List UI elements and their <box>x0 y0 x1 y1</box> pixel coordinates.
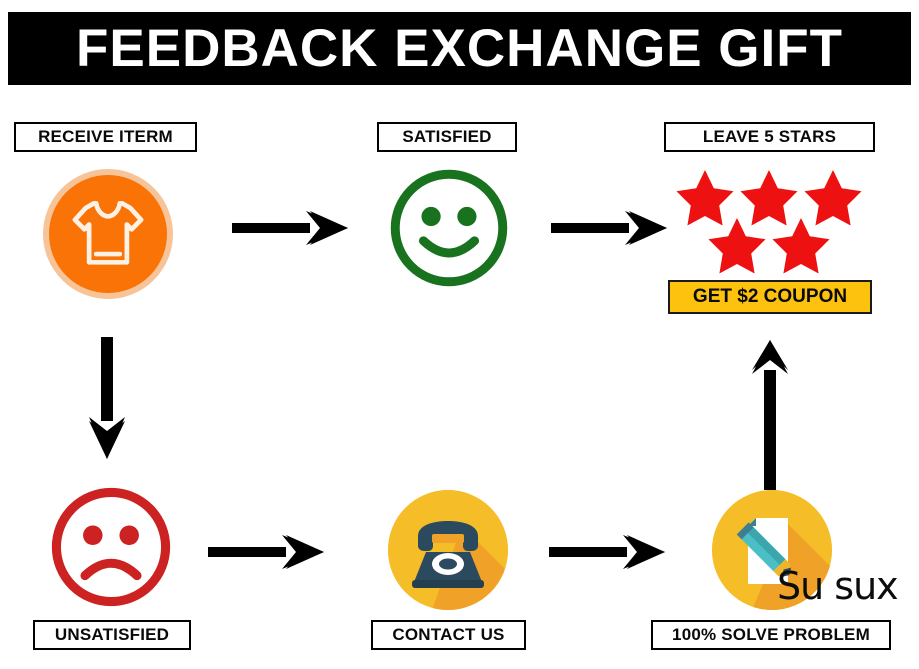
label-unsatisfied: UNSATISFIED <box>33 620 191 650</box>
title-banner: FEEDBACK EXCHANGE GIFT <box>8 12 911 85</box>
arrow-contact-to-solve <box>549 522 665 582</box>
label-contact-us: CONTACT US <box>371 620 526 650</box>
get-coupon-text: GET $2 COUPON <box>693 286 847 308</box>
arrow-item-to-unsatisfied <box>77 337 137 459</box>
smiley-face-icon <box>385 164 513 292</box>
arrow-satisfied-to-stars <box>551 198 667 258</box>
receive-item-circle <box>43 169 173 299</box>
arrow-item-to-satisfied <box>232 198 348 258</box>
arrow-solve-to-coupon <box>740 340 800 490</box>
label-receive-item-text: RECEIVE ITERM <box>38 127 173 147</box>
label-satisfied-text: SATISFIED <box>402 127 491 147</box>
five-stars-icon <box>673 168 865 276</box>
sad-face-icon <box>46 482 176 612</box>
label-contact-us-text: CONTACT US <box>392 625 504 645</box>
contact-us-circle <box>388 490 508 610</box>
infographic-canvas: FEEDBACK EXCHANGE GIFT RECEIVE ITERM SAT… <box>0 0 919 669</box>
label-leave-5-stars: LEAVE 5 STARS <box>664 122 875 152</box>
label-unsatisfied-text: UNSATISFIED <box>55 625 169 645</box>
arrow-unsatisfied-to-contact <box>208 522 324 582</box>
five-stars-group <box>673 168 865 276</box>
handwritten-annotation: Su sux <box>777 567 898 605</box>
telephone-icon <box>388 490 508 610</box>
label-solve-problem: 100% SOLVE PROBLEM <box>651 620 891 650</box>
page-title: FEEDBACK EXCHANGE GIFT <box>76 22 843 75</box>
unsatisfied-face <box>46 482 176 612</box>
get-coupon-badge[interactable]: GET $2 COUPON <box>668 280 872 314</box>
label-leave-5-stars-text: LEAVE 5 STARS <box>703 127 836 147</box>
label-receive-item: RECEIVE ITERM <box>14 122 197 152</box>
tshirt-icon <box>49 175 167 293</box>
label-satisfied: SATISFIED <box>377 122 517 152</box>
satisfied-face <box>385 164 513 292</box>
label-solve-problem-text: 100% SOLVE PROBLEM <box>672 625 870 645</box>
